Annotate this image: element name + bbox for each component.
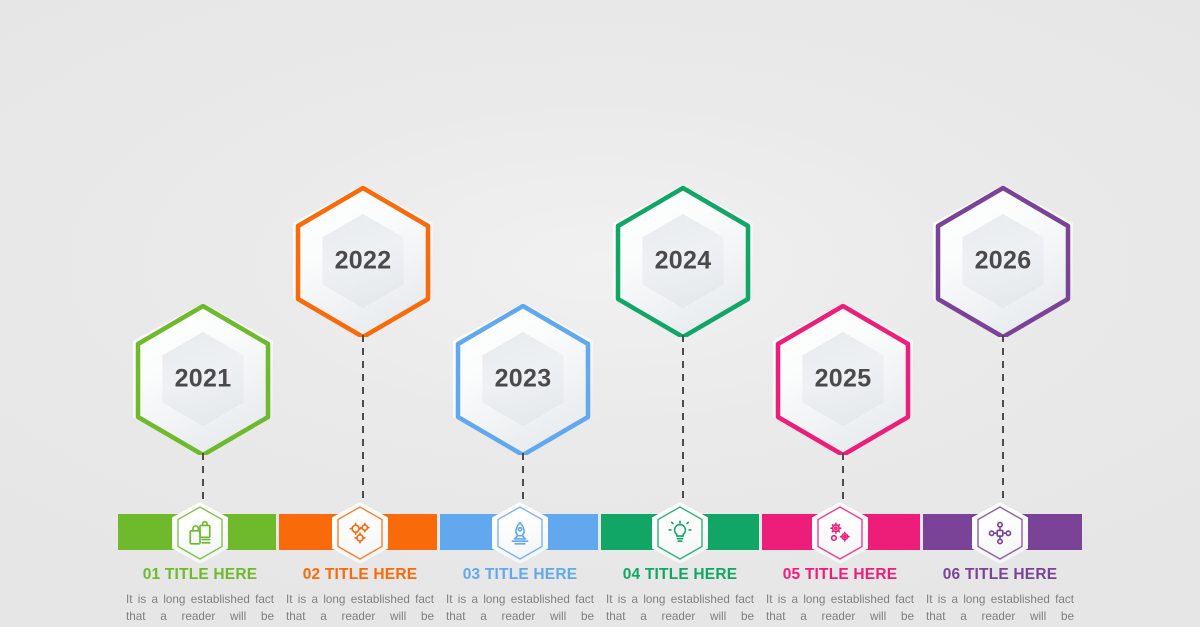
icon-node-6[interactable] (972, 502, 1028, 564)
connector-line-2021 (202, 453, 204, 505)
infographic-canvas: 202120222023202420252026 01 TITLE HEREIt… (0, 0, 1200, 627)
description-column-3: 03 TITLE HEREIt is a long established fa… (446, 566, 594, 625)
year-label: 2022 (293, 247, 433, 276)
year-label: 2023 (453, 365, 593, 394)
column-body-4: It is a long established fact that a rea… (606, 592, 754, 625)
shopping-bags-icon (187, 520, 213, 546)
timeline-color-bar (118, 514, 1082, 550)
description-column-5: 05 TITLE HEREIt is a long established fa… (766, 566, 914, 625)
network-share-icon (987, 520, 1013, 546)
cogs-settings-icon (827, 520, 853, 546)
year-node-2021[interactable]: 2021 (133, 303, 273, 455)
column-body-2: It is a long established fact that a rea… (286, 592, 434, 625)
column-body-1: It is a long established fact that a rea… (126, 592, 274, 625)
connector-line-2024 (682, 335, 684, 505)
connector-line-2022 (362, 335, 364, 505)
icon-node-2[interactable] (332, 502, 388, 564)
column-body-6: It is a long established fact that a rea… (926, 592, 1074, 625)
column-title-2: 02 TITLE HERE (286, 566, 434, 584)
column-title-1: 01 TITLE HERE (126, 566, 274, 584)
lightbulb-idea-icon (667, 520, 693, 546)
year-label: 2021 (133, 365, 273, 394)
column-title-6: 06 TITLE HERE (926, 566, 1074, 584)
rocket-launch-icon (507, 520, 533, 546)
description-column-2: 02 TITLE HEREIt is a long established fa… (286, 566, 434, 625)
year-node-2023[interactable]: 2023 (453, 303, 593, 455)
connector-line-2025 (842, 453, 844, 505)
icon-node-5[interactable] (812, 502, 868, 564)
icon-node-1[interactable] (172, 502, 228, 564)
column-title-4: 04 TITLE HERE (606, 566, 754, 584)
description-column-6: 06 TITLE HEREIt is a long established fa… (926, 566, 1074, 625)
year-node-2025[interactable]: 2025 (773, 303, 913, 455)
year-label: 2025 (773, 365, 913, 394)
connector-line-2023 (522, 453, 524, 505)
description-column-1: 01 TITLE HEREIt is a long established fa… (126, 566, 274, 625)
column-body-5: It is a long established fact that a rea… (766, 592, 914, 625)
year-node-2026[interactable]: 2026 (933, 185, 1073, 337)
column-title-3: 03 TITLE HERE (446, 566, 594, 584)
connector-line-2026 (1002, 335, 1004, 505)
icon-node-4[interactable] (652, 502, 708, 564)
icon-node-3[interactable] (492, 502, 548, 564)
year-label: 2026 (933, 247, 1073, 276)
column-body-3: It is a long established fact that a rea… (446, 592, 594, 625)
description-column-4: 04 TITLE HEREIt is a long established fa… (606, 566, 754, 625)
year-node-2024[interactable]: 2024 (613, 185, 753, 337)
year-node-2022[interactable]: 2022 (293, 185, 433, 337)
column-title-5: 05 TITLE HERE (766, 566, 914, 584)
year-label: 2024 (613, 247, 753, 276)
gears-network-icon (347, 520, 373, 546)
